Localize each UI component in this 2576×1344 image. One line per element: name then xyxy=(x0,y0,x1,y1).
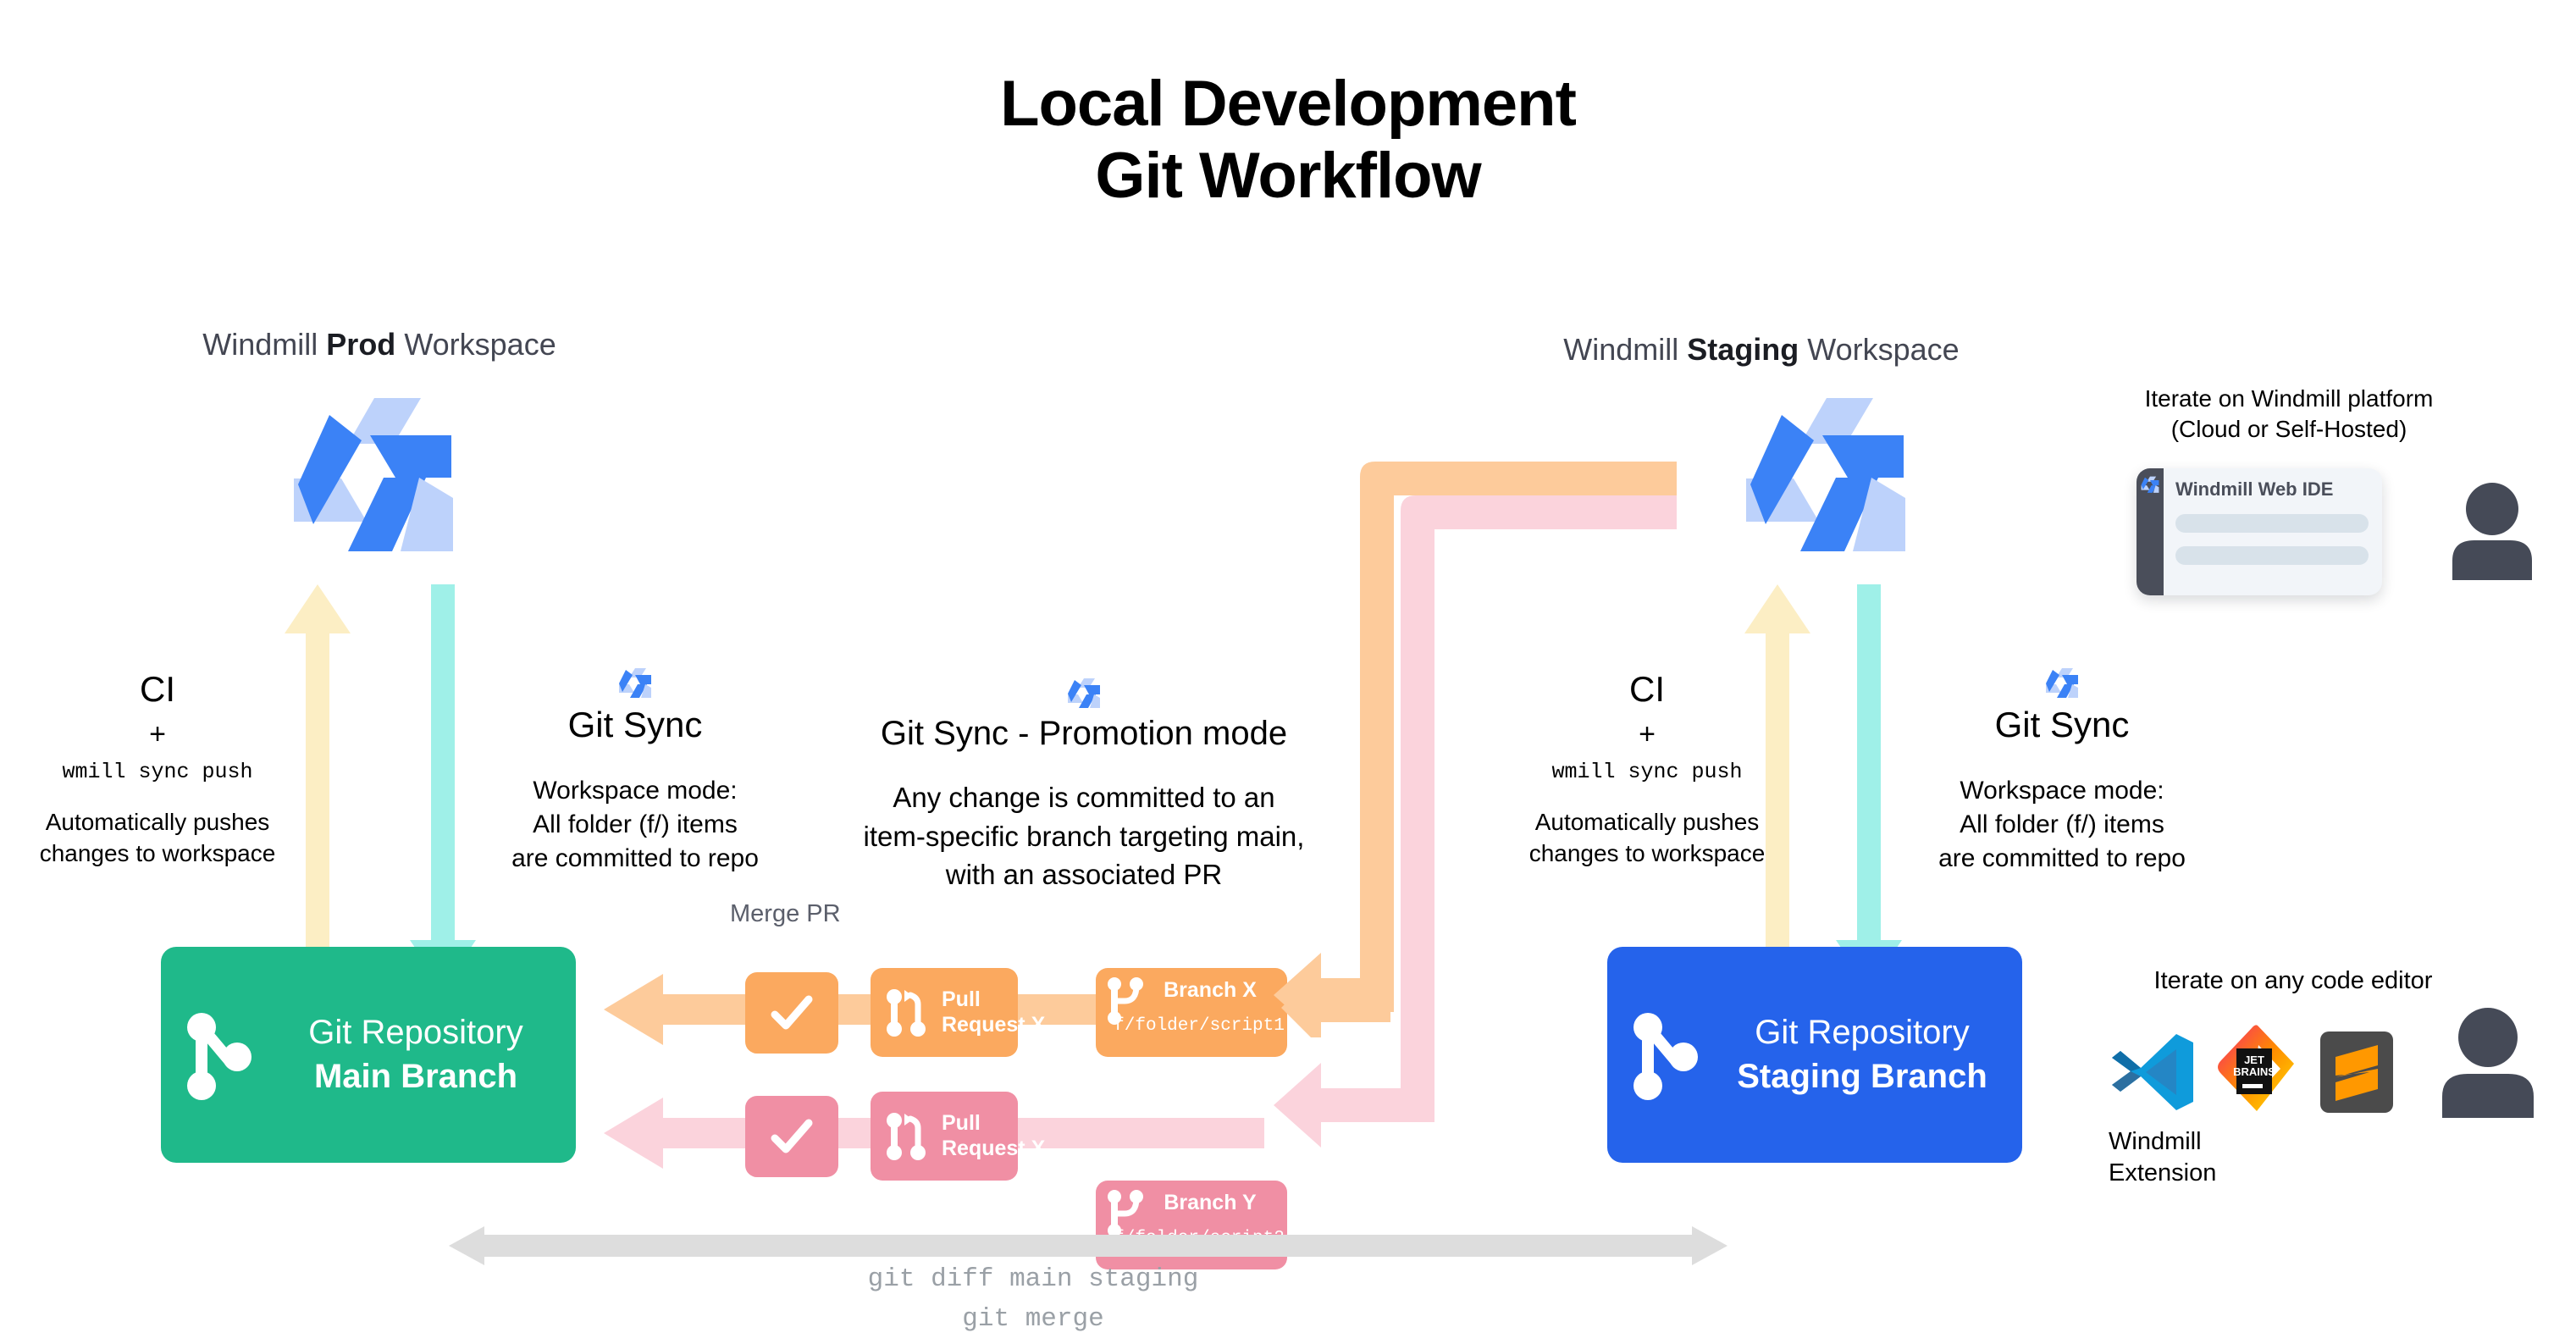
staging-ci-desc-2: changes to workspace xyxy=(1448,838,1846,869)
diff-command-2: git merge xyxy=(745,1300,1321,1340)
prod-ci-desc-1: Automatically pushes xyxy=(0,806,315,838)
ide-body: Windmill Web IDE xyxy=(2164,468,2382,595)
platform-panel-caption: Iterate on Windmill platform (Cloud or S… xyxy=(2111,384,2467,445)
sublime-text-icon xyxy=(2320,1032,2393,1113)
windmill-logo-icon xyxy=(1744,396,1905,553)
platform-caption-1: Iterate on Windmill platform xyxy=(2111,384,2467,414)
prod-ci-title: CI xyxy=(0,669,315,710)
pull-request-icon xyxy=(884,987,931,1038)
prod-ci-command: wmill sync push xyxy=(0,760,315,784)
staging-gitsync-desc-1: Workspace mode: xyxy=(1884,774,2240,808)
git-branch-icon xyxy=(1106,976,1145,1026)
windmill-small-icon xyxy=(2045,667,2079,698)
staging-header-prefix: Windmill xyxy=(1563,332,1687,367)
prod-ci-desc-2: changes to workspace xyxy=(0,838,315,869)
staging-header-strong: Staging xyxy=(1687,332,1799,367)
page-title-line-1: Local Development xyxy=(0,68,2576,140)
svg-text:BRAINS: BRAINS xyxy=(2233,1065,2275,1078)
vscode-icon xyxy=(2110,1029,2195,1114)
pr-line-2-row-1: Request X xyxy=(942,1013,1045,1037)
prod-header-suffix: Workspace xyxy=(395,327,556,362)
person-icon xyxy=(2446,483,2539,580)
pull-request-icon xyxy=(884,1111,931,1162)
ide-sidebar xyxy=(2137,468,2164,595)
prod-ci-plus: + xyxy=(0,718,315,751)
staging-gitsync-title: Git Sync xyxy=(1884,705,2240,745)
windmill-logo-icon xyxy=(292,396,453,553)
windmill-web-ide-card[interactable]: Windmill Web IDE xyxy=(2137,468,2382,595)
merge-pr-label: Merge PR xyxy=(730,900,841,928)
pr-line-1-row-1: Pull xyxy=(942,987,981,1011)
staging-gitsync-block: Git Sync Workspace mode: All folder (f/)… xyxy=(1884,667,2240,876)
staging-workspace-header: Windmill Staging Workspace xyxy=(1355,332,2168,368)
repo-main-line-2: Main Branch xyxy=(314,1058,517,1095)
pr-line-1-row-2: Pull xyxy=(942,1111,981,1135)
check-icon xyxy=(767,988,816,1037)
windmill-extension-label: Windmill Extension xyxy=(2109,1126,2216,1189)
merge-check-row-1[interactable] xyxy=(745,972,838,1054)
ide-skeleton-line xyxy=(2175,546,2369,565)
pr-line-2-row-2: Request X xyxy=(942,1137,1045,1160)
page-title: Local Development Git Workflow xyxy=(0,68,2576,212)
staging-ci-plus: + xyxy=(1448,718,1846,751)
check-icon xyxy=(767,1112,816,1161)
pull-request-label-row-1: Pull Request X xyxy=(942,987,1045,1037)
git-repository-main-label: Git Repository Main Branch xyxy=(271,1011,576,1098)
windmill-small-icon xyxy=(1067,678,1101,708)
ide-skeleton-line xyxy=(2175,514,2369,533)
diff-commands: git diff main staging git merge xyxy=(745,1260,1321,1339)
git-branch-icon xyxy=(1616,1004,1717,1106)
platform-caption-2: (Cloud or Self-Hosted) xyxy=(2111,414,2467,445)
prod-header-prefix: Windmill xyxy=(202,327,326,362)
git-repository-staging-label: Git Repository Staging Branch xyxy=(1717,1011,2022,1098)
prod-header-strong: Prod xyxy=(326,327,395,362)
merge-check-row-2[interactable] xyxy=(745,1096,838,1177)
staging-gitsync-desc-3: are committed to repo xyxy=(1884,842,2240,876)
editor-panel-caption: Iterate on any code editor xyxy=(2111,965,2475,997)
git-branch-icon xyxy=(169,1004,271,1106)
ext-label-1: Windmill xyxy=(2109,1126,2216,1158)
staging-ci-desc-1: Automatically pushes xyxy=(1448,806,1846,838)
staging-ci-title: CI xyxy=(1448,669,1846,710)
pull-request-card-row-2[interactable]: Pull Request X xyxy=(871,1092,1018,1181)
ide-title: Windmill Web IDE xyxy=(2175,478,2369,501)
windmill-small-icon xyxy=(2141,475,2159,494)
repo-main-line-1: Git Repository xyxy=(308,1014,522,1051)
staging-gitsync-desc-2: All folder (f/) items xyxy=(1884,808,2240,842)
person-icon xyxy=(2435,1008,2541,1118)
staging-header-suffix: Workspace xyxy=(1799,332,1959,367)
prod-ci-block: CI + wmill sync push Automatically pushe… xyxy=(0,669,315,869)
prod-workspace-header: Windmill Prod Workspace xyxy=(151,327,608,362)
jetbrains-icon: JET BRAINS xyxy=(2216,1023,2301,1116)
ext-label-2: Extension xyxy=(2109,1158,2216,1189)
windmill-small-icon xyxy=(618,667,652,698)
branch-card-row-1[interactable]: Branch X f/folder/script1 xyxy=(1096,968,1287,1057)
repo-staging-line-2: Staging Branch xyxy=(1737,1058,1987,1095)
page-title-line-2: Git Workflow xyxy=(0,140,2576,212)
staging-ci-command: wmill sync push xyxy=(1448,760,1846,784)
diff-command-1: git diff main staging xyxy=(745,1260,1321,1300)
pull-request-card-row-1[interactable]: Pull Request X xyxy=(871,968,1018,1057)
staging-ci-block: CI + wmill sync push Automatically pushe… xyxy=(1448,669,1846,869)
git-repository-main-card[interactable]: Git Repository Main Branch xyxy=(161,947,576,1163)
repo-staging-line-1: Git Repository xyxy=(1755,1014,1969,1051)
pull-request-label-row-2: Pull Request X xyxy=(942,1111,1045,1161)
svg-text:JET: JET xyxy=(2244,1054,2264,1066)
git-repository-staging-card[interactable]: Git Repository Staging Branch xyxy=(1607,947,2022,1163)
